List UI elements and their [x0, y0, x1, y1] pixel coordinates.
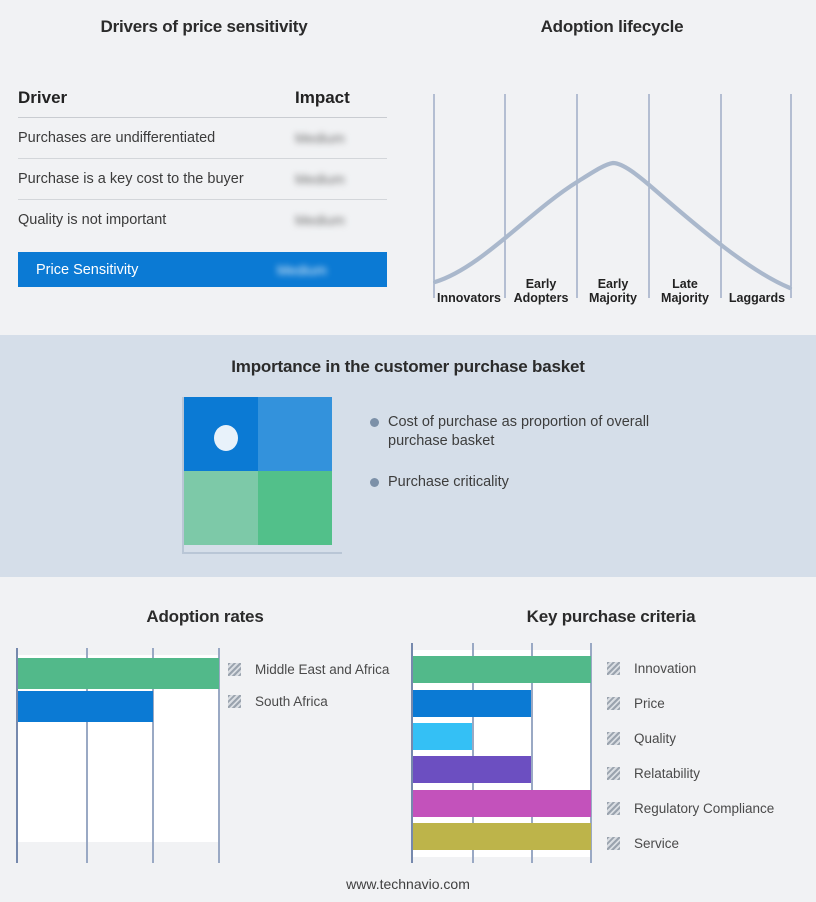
bullet-icon [370, 478, 379, 487]
legend-label: Middle East and Africa [255, 662, 389, 677]
legend-label: South Africa [255, 694, 328, 709]
bar-innovation [413, 656, 591, 683]
legend-label: Innovation [634, 661, 696, 676]
bar-quality [413, 723, 472, 750]
hatch-swatch-icon [228, 695, 241, 708]
bar-regulatory-compliance [413, 790, 591, 817]
table-header-row: Driver Impact [18, 88, 387, 118]
hatch-swatch-icon [607, 802, 620, 815]
stage-label-early-majority: Early Majority [577, 265, 649, 310]
drivers-panel: Drivers of price sensitivity Driver Impa… [0, 0, 408, 335]
purchase-basket-legend: Cost of purchase as proportion of overal… [370, 413, 690, 514]
quadrant-x-axis [182, 552, 342, 554]
legend-label: Cost of purchase as proportion of overal… [388, 413, 690, 451]
legend-label: Price [634, 696, 665, 711]
stage-label-late-majority: Late Majority [649, 265, 721, 310]
highlight-impact-value: Medium [277, 262, 369, 278]
impact-value: Medium [295, 171, 387, 187]
stage-label-innovators: Innovators [433, 265, 505, 310]
position-marker-dot [214, 425, 238, 451]
price-sensitivity-highlight-row: Price Sensitivity Medium [18, 252, 387, 287]
drivers-table: Driver Impact Purchases are undifferenti… [18, 88, 387, 287]
adoption-rates-title: Adoption rates [0, 607, 410, 627]
quadrant-chart [178, 397, 353, 502]
adoption-lifecycle-title: Adoption lifecycle [408, 17, 816, 37]
hatch-swatch-icon [607, 732, 620, 745]
table-row: Purchase is a key cost to the buyer Medi… [18, 159, 387, 200]
legend-item: South Africa [228, 694, 389, 709]
hatch-swatch-icon [607, 697, 620, 710]
key-purchase-criteria-title: Key purchase criteria [406, 607, 816, 627]
impact-value: Medium [295, 130, 387, 146]
quadrant-bottom-right [258, 471, 332, 545]
kpc-legend: Innovation Price Quality Relatability Re… [607, 661, 774, 871]
bar-price [413, 690, 531, 717]
purchase-basket-title: Importance in the customer purchase bask… [0, 357, 816, 377]
legend-item: Middle East and Africa [228, 662, 389, 677]
legend-item: Regulatory Compliance [607, 801, 774, 816]
hatch-swatch-icon [607, 837, 620, 850]
impact-value: Medium [295, 212, 387, 228]
driver-label: Purchases are undifferentiated [18, 130, 295, 146]
hatch-swatch-icon [607, 767, 620, 780]
bar-middle-east-and-africa [18, 658, 219, 689]
hatch-swatch-icon [228, 663, 241, 676]
quadrant-top-left [184, 397, 258, 471]
bullet-icon [370, 418, 379, 427]
column-header-impact: Impact [295, 88, 387, 108]
stage-label-early-adopters: Early Adopters [505, 265, 577, 310]
table-row: Purchases are undifferentiated Medium [18, 118, 387, 159]
top-row-section: Drivers of price sensitivity Driver Impa… [0, 0, 816, 335]
bar-south-africa [18, 691, 153, 722]
adoption-lifecycle-panel: Adoption lifecycle Innovators Early Adop… [408, 0, 816, 335]
legend-item: Quality [607, 731, 774, 746]
hatch-swatch-icon [607, 662, 620, 675]
legend-label: Service [634, 836, 679, 851]
lifecycle-stage-labels: Innovators Early Adopters Early Majority… [433, 265, 793, 310]
legend-item: Purchase criticality [370, 473, 690, 492]
table-row: Quality is not important Medium [18, 200, 387, 240]
quadrant-grid [184, 397, 332, 545]
drivers-title: Drivers of price sensitivity [0, 17, 408, 37]
legend-item: Innovation [607, 661, 774, 676]
adoption-rates-legend: Middle East and Africa South Africa [228, 662, 389, 724]
legend-label: Regulatory Compliance [634, 801, 774, 816]
driver-label: Quality is not important [18, 212, 295, 228]
footer-url: www.technavio.com [0, 876, 816, 892]
legend-item: Service [607, 836, 774, 851]
highlight-driver-label: Price Sensitivity [36, 262, 277, 278]
legend-label: Purchase criticality [388, 473, 509, 492]
quadrant-bottom-left [184, 471, 258, 545]
bar-relatability [413, 756, 531, 783]
legend-item: Price [607, 696, 774, 711]
quadrant-top-right [258, 397, 332, 471]
stage-label-laggards: Laggards [721, 265, 793, 310]
legend-item: Relatability [607, 766, 774, 781]
legend-item: Cost of purchase as proportion of overal… [370, 413, 690, 451]
legend-label: Relatability [634, 766, 700, 781]
driver-label: Purchase is a key cost to the buyer [18, 171, 295, 187]
column-header-driver: Driver [18, 88, 295, 108]
bar-service [413, 823, 591, 850]
legend-label: Quality [634, 731, 676, 746]
